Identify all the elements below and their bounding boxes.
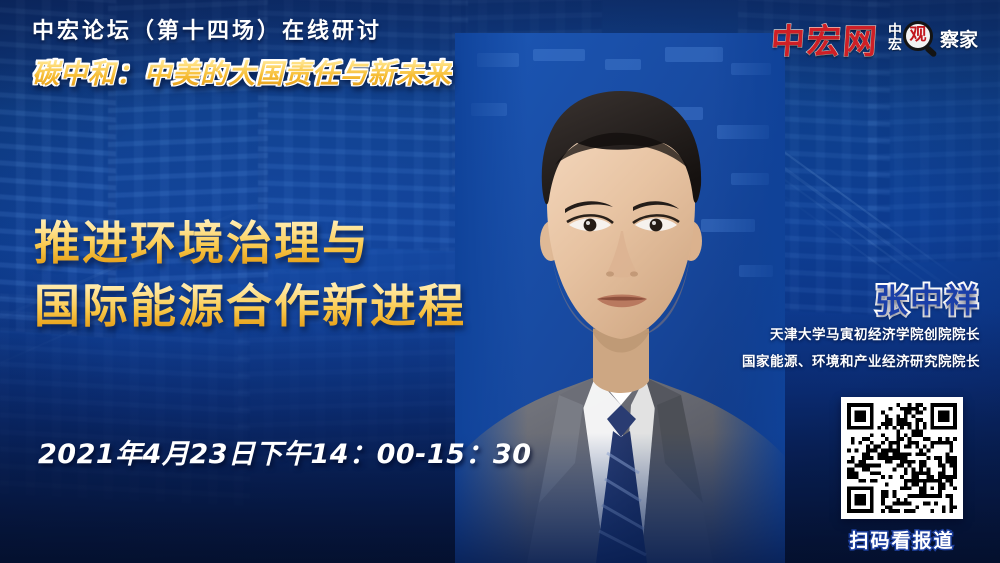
page-title: 推进环境治理与 国际能源合作新进程	[34, 212, 466, 338]
magnifier-icon: 观	[903, 21, 939, 57]
magnifier-handle	[924, 44, 938, 57]
event-poster: 中宏网 中 宏 观 察家 中宏论坛（第十四场）在线研讨 碳中和：中美的大国责任与…	[0, 0, 1000, 563]
speaker-name: 张中祥	[742, 283, 980, 319]
qr-block[interactable]: 扫码看报道	[841, 397, 963, 553]
header-block: 中宏论坛（第十四场）在线研讨 碳中和：中美的大国责任与新未来	[32, 18, 452, 91]
logo-tail-text: 察家	[940, 25, 978, 52]
qr-code[interactable]	[841, 397, 963, 519]
forum-kicker: 中宏论坛（第十四场）在线研讨	[32, 18, 452, 46]
event-datetime: 2021年4月23日下午14：00-15：30	[38, 432, 532, 471]
speaker-title-2: 国家能源、环境和产业经济研究院院长	[742, 352, 980, 373]
speaker-title-1: 天津大学马寅初经济学院创院院长	[742, 325, 980, 346]
speaker-info: 张中祥 天津大学马寅初经济学院创院院长 国家能源、环境和产业经济研究院院长	[742, 283, 980, 373]
logo-sub-bottom: 宏	[888, 39, 902, 52]
logo-stacked-chars: 中 宏	[888, 25, 902, 52]
title-line-2: 国际能源合作新进程	[34, 275, 466, 338]
logo-wordmark: 中宏网	[769, 14, 880, 63]
speaker-photo	[455, 33, 785, 563]
forum-theme: 碳中和：中美的大国责任与新未来	[32, 52, 452, 91]
logo-observer-mark: 中 宏 观 察家	[888, 21, 978, 57]
qr-caption: 扫码看报道	[841, 526, 963, 553]
title-line-1: 推进环境治理与	[34, 212, 466, 275]
logo-glass-char: 观	[909, 27, 926, 44]
site-logo[interactable]: 中宏网 中 宏 观 察家	[771, 14, 978, 63]
